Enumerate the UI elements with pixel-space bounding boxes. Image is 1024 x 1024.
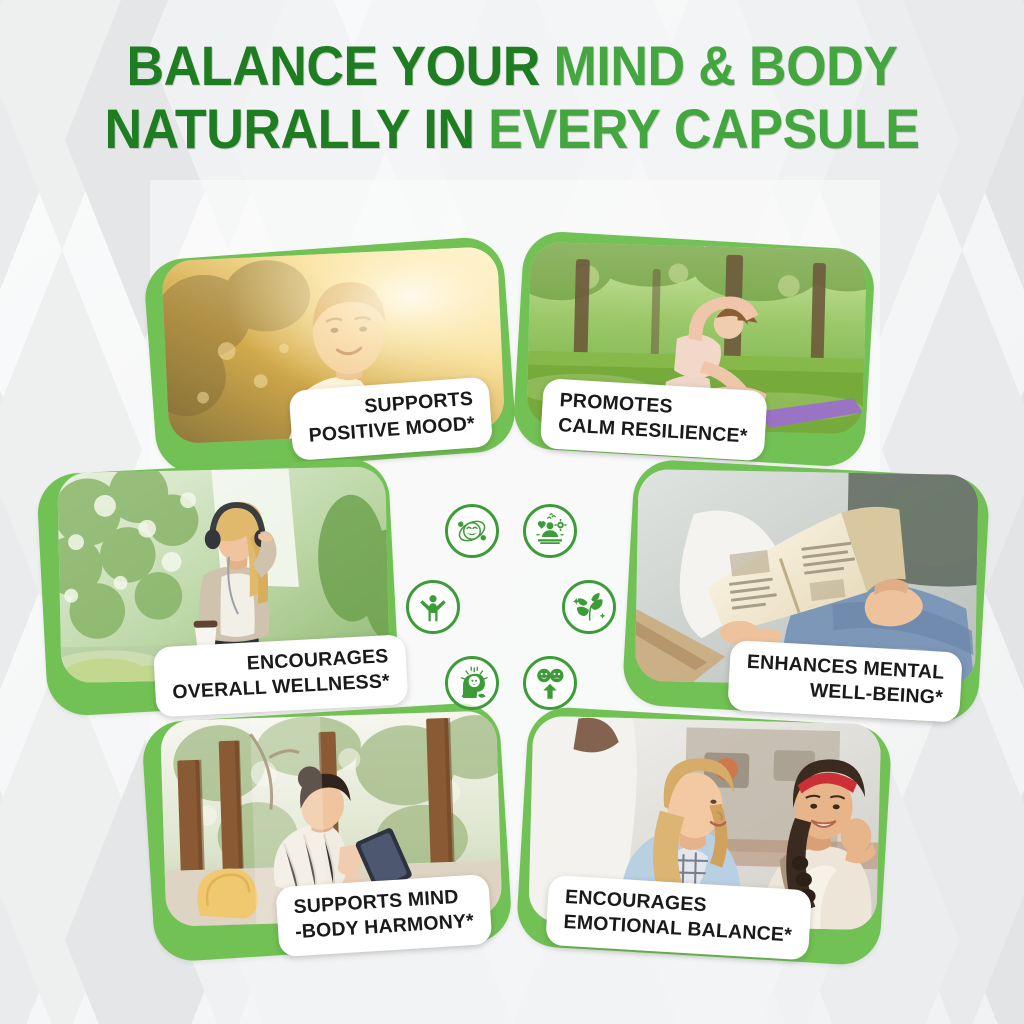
head-with-plant-icon[interactable] [445,656,499,710]
benefit-card-enhances-mental-well-being[interactable]: ENHANCES MENTAL WELL-BEING* [621,458,990,723]
headline-word: NATURALLY [104,97,409,160]
raised-arms-figure-icon[interactable] [406,580,460,634]
page-title: BALANCEYOURMIND&BODY NATURALLYINEVERYCAP… [0,38,1024,157]
infographic-canvas: BALANCEYOURMIND&BODY NATURALLYINEVERYCAP… [0,0,1024,1024]
headline-line-1: BALANCEYOURMIND&BODY [36,38,988,94]
smiley-orbit-icon[interactable] [445,504,499,558]
headline-word: MIND [553,34,684,97]
herbal-leaves-icon[interactable] [562,580,616,634]
benefit-card-supports-mind-body-harmony[interactable]: SUPPORTS MIND -BODY HARMONY* [141,701,513,963]
card-label-supports-positive-mood: SUPPORTS POSITIVE MOOD* [288,376,493,460]
benefit-card-encourages-overall-wellness[interactable]: ENCOURAGES OVERALL WELLNESS* [36,457,400,717]
benefit-card-promotes-calm-resilience[interactable]: PROMOTES CALM RESILIENCE* [512,230,876,468]
benefit-card-encourages-emotional-balance[interactable]: ENCOURAGES EMOTIONAL BALANCE* [515,705,893,966]
headline-word: BODY [749,34,898,97]
card-label-enhances-mental-well-being: ENHANCES MENTAL WELL-BEING* [727,640,962,722]
card-label-encourages-overall-wellness: ENCOURAGES OVERALL WELLNESS* [153,634,408,717]
benefit-card-supports-positive-mood[interactable]: SUPPORTS POSITIVE MOOD* [143,235,518,476]
benefit-icon-cluster [398,498,624,724]
headline-line-2: NATURALLYINEVERYCAPSULE [36,101,988,157]
two-faces-arrow-icon[interactable] [523,656,577,710]
headline-word: CAPSULE [674,97,920,160]
headline-word: BALANCE [126,34,377,97]
headline-word: IN [423,97,474,160]
headline-word: YOUR [391,34,540,97]
meditating-figure-icon[interactable] [523,504,577,558]
card-label-supports-mind-body-harmony: SUPPORTS MIND -BODY HARMONY* [275,874,492,957]
headline-word: & [698,34,735,97]
card-label-promotes-calm-resilience: PROMOTES CALM RESILIENCE* [540,378,767,461]
headline-word: EVERY [488,97,660,160]
